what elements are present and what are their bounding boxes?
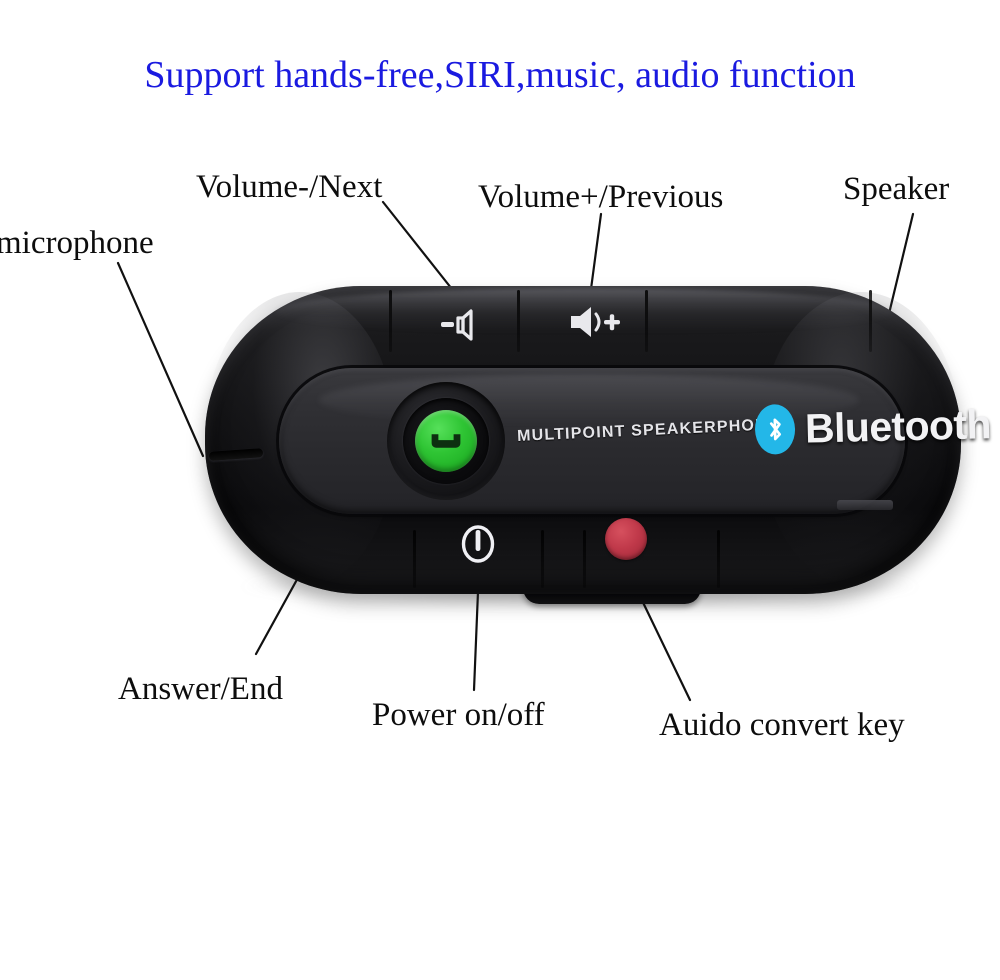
callout-label-speaker: Speaker [843,170,949,208]
bottom-seam-2 [541,530,544,588]
leader-microphone [118,263,203,456]
bottom-seam-3 [583,530,586,588]
callout-label-audio-key: Auido convert key [659,706,905,744]
bottom-seam-1 [413,530,416,588]
device-body: MULTIPOINT SPEAKERPHONE Bluetooth [205,286,961,594]
volume-up-button[interactable] [567,304,623,340]
bluetooth-logo: Bluetooth [754,399,991,455]
phone-handset-icon [429,430,463,452]
page-title: Support hands-free,SIRI,music, audio fun… [0,52,1000,98]
answer-end-button[interactable] [387,382,505,500]
diagram-canvas: Support hands-free,SIRI,music, audio fun… [0,0,1000,980]
bottom-seam-4 [717,530,720,588]
audio-convert-key-button[interactable] [605,518,647,560]
callout-label-volume-down: Volume-/Next [196,168,382,206]
bluetooth-icon [754,404,795,455]
volume-down-button[interactable] [441,308,493,342]
callout-label-volume-up: Volume+/Previous [478,178,723,216]
answer-end-button-cap [415,410,477,472]
callout-label-power: Power on/off [372,696,545,734]
top-seam-2 [517,290,520,352]
answer-end-button-ring [403,398,489,484]
power-symbol-icon [459,522,497,566]
bluetooth-car-kit-device: MULTIPOINT SPEAKERPHONE Bluetooth [205,286,961,606]
microphone-slot-icon [209,448,263,461]
power-button[interactable] [459,522,497,566]
bluetooth-wordmark: Bluetooth [804,402,991,451]
device-faceplate: MULTIPOINT SPEAKERPHONE Bluetooth [279,368,905,514]
top-seam-4 [869,290,872,352]
brand-text: MULTIPOINT SPEAKERPHONE [517,416,780,446]
top-seam-3 [645,290,648,352]
top-seam-1 [389,290,392,352]
callout-label-microphone: microphone [0,224,154,262]
faceplate-notch [837,500,893,510]
callout-label-answer-end: Answer/End [118,670,283,708]
